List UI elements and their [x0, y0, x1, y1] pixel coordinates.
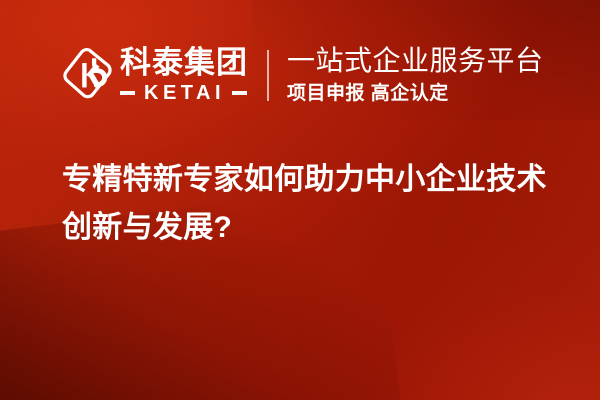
tagline-primary: 一站式企业服务平台: [287, 47, 544, 75]
brand-tagline: 一站式企业服务平台 项目申报 高企认定: [287, 47, 544, 103]
logo-name-en-row: KETAI: [120, 83, 248, 103]
promo-banner: 科泰集团 KETAI 一站式企业服务平台 项目申报 高企认定 专精特新专家如何助…: [0, 0, 600, 400]
logo-name-en: KETAI: [135, 83, 232, 103]
ketai-diamond-kt-monogram-icon: [62, 46, 114, 104]
logo-wordmark: 科泰集团 KETAI: [120, 47, 248, 103]
logo-rule-right-icon: [232, 91, 247, 95]
tagline-secondary: 项目申报 高企认定: [287, 84, 544, 103]
page-title: 专精特新专家如何助力中小企业技术创新与发展?: [62, 156, 562, 252]
background-bottom-right-sheen: [312, 240, 600, 400]
brand-header: 科泰集团 KETAI 一站式企业服务平台 项目申报 高企认定: [62, 40, 544, 110]
header-divider: [267, 50, 269, 101]
logo-rule-left-icon: [120, 91, 135, 95]
logo-name-cn: 科泰集团: [120, 47, 248, 78]
